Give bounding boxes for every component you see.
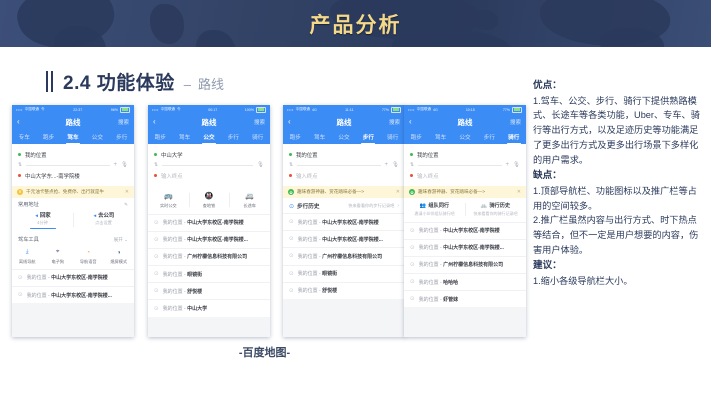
battery-icon: [120, 107, 130, 113]
screen-body: 我的位置 ⇅ + 🎙 输入终点 ✿ 趣味春游神器、赏花踏味必备—: [283, 144, 405, 337]
route-input-card: 中山大学 ⇅ 🎙 输入终点: [148, 144, 270, 186]
tool-radar[interactable]: ⌖ 电子狗: [43, 248, 74, 265]
start-point-row[interactable]: 我的位置: [18, 148, 128, 161]
status-bar: •••• 中国联通 令 00:17 100%: [148, 105, 270, 114]
shortcut-realtime-bus[interactable]: 🚌 实时公交: [148, 191, 189, 209]
tab-buxing[interactable]: 步行: [363, 133, 374, 144]
list-item[interactable]: ⊙ 我的位置 - 中山大学东校区-南学院楼: [12, 269, 134, 286]
pros-block: 优点： 1.驾车、公交、步行、骑行下提供熟路模式、长途车等各类功能，Uber、专…: [533, 78, 705, 168]
clock-icon: ⊙: [410, 296, 415, 302]
mode-tab-bar: 跑步 驾车 公交 步行 骑行: [283, 130, 405, 144]
history-list: ⊙ 我的位置 - 中山大学东校区-南学院楼 ⊙ 我的位置 - 中山大学东校区-南…: [12, 269, 134, 303]
tab-paobu[interactable]: 跑步: [290, 133, 301, 144]
tool-offline-nav[interactable]: ⤓ 离线导航: [12, 248, 43, 265]
start-point-label: 中山大学: [161, 151, 183, 159]
end-point-row[interactable]: 输入终点: [154, 169, 264, 182]
battery-icon: [512, 107, 522, 113]
battery-icon: [256, 107, 266, 113]
history-prefix: 我的位置 -: [163, 220, 187, 226]
clock-icon: ⊙: [410, 228, 415, 234]
swap-icon[interactable]: ⇅: [289, 162, 293, 168]
shortcut-coach[interactable]: 🚐 长途车: [229, 191, 270, 209]
divider: [297, 165, 380, 166]
action-ride-history-label: 骑行历史: [489, 203, 510, 209]
slide-root: 产品分析 2.4 功能体验 – 路线 •••• 中国联通 令 22:37 96%…: [0, 0, 711, 400]
tab-paobu[interactable]: 跑步: [43, 133, 54, 144]
tab-buxing[interactable]: 步行: [228, 133, 239, 144]
clock-icon: ⊙: [154, 237, 159, 243]
search-button[interactable]: 搜索: [389, 118, 400, 126]
clock-icon: ⊙: [410, 262, 415, 268]
add-waypoint-icon[interactable]: +: [114, 162, 118, 168]
transit-shortcut-row: 🚌 实时公交 🚇 查地铁 🚐 长途车: [148, 186, 270, 214]
tab-paobu[interactable]: 跑步: [155, 133, 166, 144]
end-dot-icon: [410, 174, 413, 177]
cons-block: 缺点： 1.顶部导航栏、功能图标以及推广栏等占用的空间较多。 2.推广栏虽然内容…: [533, 168, 705, 258]
history-place: 中山大学东校区-南学院楼: [187, 220, 244, 226]
nav-bar: ‹ 路线 搜索: [283, 114, 405, 130]
page-title: 路线: [12, 117, 134, 128]
team-icon: 👥: [420, 203, 426, 209]
history-prefix: 我的位置 -: [27, 293, 51, 299]
route-input-card: 我的位置 ⇅ + 🎙 输入终点: [404, 144, 526, 186]
list-item[interactable]: ⊙ 我的位置 - 中山大学东校区-南学院楼...: [12, 286, 134, 303]
end-point-row[interactable]: 输入终点: [289, 169, 399, 182]
list-item[interactable]: ⊙我的位置 - 虾管妹: [404, 290, 526, 307]
status-bar: •••• 中国联通 4G 10:15 77%: [404, 105, 526, 114]
list-item[interactable]: ⊙我的位置 - 广州柠檬信息科技有限公司: [148, 248, 270, 265]
expand-button[interactable]: 展开 ⌄: [114, 237, 128, 243]
nav-bar: ‹ 路线 搜索: [404, 114, 526, 130]
route-input-card: 我的位置 ⇅ + 🎙 输入终点: [283, 144, 405, 186]
history-prefix: 我的位置 -: [419, 262, 443, 268]
wifi-icon: 令: [41, 107, 45, 112]
tab-gongjiao[interactable]: 公交: [338, 133, 349, 144]
history-prefix: 我的位置 -: [298, 271, 322, 277]
tab-qixing[interactable]: 骑行: [252, 133, 263, 144]
battery-percent-label: 96%: [111, 108, 118, 112]
history-place: 中山大学: [187, 306, 207, 312]
list-item[interactable]: ⊙我的位置 - 广州柠檬信息科技有限公司: [283, 247, 405, 264]
start-point-row[interactable]: 中山大学: [154, 148, 264, 161]
clock-icon: ⊙: [289, 271, 294, 277]
list-item[interactable]: ⊙我的位置 - 中山大学东校区-南学院楼: [283, 213, 405, 230]
pros-body: 1.驾车、公交、步行、骑行下提供熟路模式、长途车等各类功能，Uber、专车、骑行…: [533, 94, 705, 169]
history-list: ⊙我的位置 - 中山大学东校区-南学院楼 ⊙我的位置 - 中山大学东校区-南学院…: [148, 214, 270, 317]
clock-icon: ⊙: [154, 254, 159, 260]
history-place: 中山大学东校区-南学院楼: [51, 275, 108, 281]
status-bar: •••• 中国联通 4G 11:11 77%: [283, 105, 405, 114]
clock-icon: ⊙: [154, 271, 159, 277]
tab-jiache[interactable]: 驾车: [435, 133, 446, 144]
chevron-right-icon: ›: [397, 203, 399, 209]
start-point-row[interactable]: 我的位置: [410, 148, 520, 161]
end-dot-icon: [154, 174, 157, 177]
tab-zhuanche[interactable]: 专车: [19, 133, 30, 144]
list-item[interactable]: ⊙我的位置 - 舒悦楼: [283, 282, 405, 299]
download-icon: ⤓: [23, 248, 32, 257]
promo-badge-icon: ✿: [288, 189, 294, 195]
tool-screenoff-label: 熄屏模式: [104, 259, 135, 265]
start-dot-icon: [289, 153, 292, 156]
swap-icon[interactable]: ⇅: [154, 162, 158, 168]
cons-label: 缺点：: [533, 168, 705, 184]
add-waypoint-icon[interactable]: +: [385, 162, 389, 168]
tab-gongjiao[interactable]: 公交: [459, 133, 470, 144]
history-place: 中山大学东校区-南学院楼...: [443, 245, 504, 251]
shortcut-subway-label: 查地铁: [189, 203, 230, 209]
history-prefix: 我的位置 -: [163, 237, 187, 243]
page-title: 路线: [404, 117, 526, 128]
tab-qixing[interactable]: 骑行: [387, 133, 398, 144]
favorite-company-sub: 点击设置: [73, 220, 134, 226]
promo-banner[interactable]: ✿ 趣味春游神器、赏花踏味必备—> ✕: [404, 186, 526, 198]
history-place: 中山大学东校区-南学院楼: [322, 220, 379, 226]
status-bar: •••• 中国联通 令 22:37 96%: [12, 105, 134, 114]
header-banner: 产品分析: [0, 0, 711, 47]
screen-body: 中山大学 ⇅ 🎙 输入终点 🚌 实时公交: [148, 144, 270, 337]
promo-banner[interactable]: ￥ 千元油卡整点抢、免费停、出行就是牛 ✕: [12, 186, 134, 198]
history-place: 眼镜街: [322, 271, 337, 277]
network-type-label: 4G: [312, 108, 317, 112]
nav-bar: ‹ 路线 搜索: [148, 114, 270, 130]
divider: [26, 165, 109, 166]
cycling-action-row: 👥组队同行 邀请小伙伴组队骑行吧 🚲骑行历史 快来看看你的骑行记录吧: [404, 198, 526, 222]
carrier-label: 中国联通: [417, 107, 431, 112]
end-point-row[interactable]: 中山大学东...-南学院楼: [18, 169, 128, 182]
history-place: 广州柠檬信息科技有限公司: [322, 254, 382, 260]
tab-jiache[interactable]: 驾车: [314, 133, 325, 144]
company-icon: ◄: [93, 213, 97, 218]
suggestions-label: 建议：: [533, 258, 705, 274]
list-item[interactable]: ⊙我的位置 - 中山大学: [148, 299, 270, 316]
shortcut-subway[interactable]: 🚇 查地铁: [189, 191, 230, 209]
network-type-label: 4G: [433, 108, 438, 112]
radar-icon: ⌖: [53, 248, 62, 257]
clock-icon: ⊙: [289, 253, 294, 259]
active-underline: [30, 228, 56, 229]
tab-qixing[interactable]: 骑行: [508, 133, 519, 144]
cons-body-1: 1.顶部导航栏、功能图标以及推广栏等占用的空间较多。: [533, 184, 705, 214]
tool-offline-nav-label: 离线导航: [12, 259, 43, 265]
tool-screenoff[interactable]: ◑ 熄屏模式: [104, 248, 135, 265]
screen-body: 我的位置 ⇅ + 🎙 中山大学东...-南学院楼 ￥ 千元油卡整: [12, 144, 134, 337]
history-place: 中山大学东校区-南学院楼...: [51, 293, 112, 299]
clock-icon: ⊙: [154, 220, 159, 226]
clock-icon: ⊙: [18, 292, 23, 298]
shortcut-coach-label: 长途车: [229, 203, 270, 209]
end-point-placeholder: 输入终点: [417, 172, 439, 180]
history-place: 眼镜街: [187, 272, 202, 278]
favorite-company[interactable]: ◄去公司 点击设置: [73, 211, 134, 229]
history-prefix: 我的位置 -: [419, 228, 443, 234]
clock-icon: ⊙: [410, 279, 415, 285]
end-point-placeholder: 输入终点: [161, 172, 183, 180]
pros-label: 优点：: [533, 78, 705, 94]
tool-radar-label: 电子狗: [43, 259, 74, 265]
tools-header: 驾车工具 展开 ⌄: [12, 233, 134, 245]
walking-history-sub: 快来看看你的步行记录吧: [348, 203, 394, 209]
mode-tab-bar: 跑步 驾车 公交 步行 骑行: [148, 130, 270, 144]
start-point-label: 我的位置: [25, 151, 47, 159]
divider: [162, 165, 253, 166]
footprint-icon: ⊙: [289, 203, 294, 210]
list-item[interactable]: ⊙我的位置 - 中山大学东校区-南学院楼...: [404, 239, 526, 256]
signal-dots-icon: ••••: [287, 108, 294, 112]
search-button[interactable]: 搜索: [118, 118, 129, 126]
action-team-ride[interactable]: 👥组队同行 邀请小伙伴组队骑行吧: [404, 202, 465, 217]
clock-icon: ⊙: [289, 219, 294, 225]
promo-text: 趣味春游神器、赏花踏味必备—>: [297, 189, 393, 195]
history-prefix: 我的位置 -: [27, 275, 51, 281]
route-controls-row: ⇅ + 🎙: [289, 161, 399, 169]
page-title: 路线: [148, 117, 270, 128]
suggestions-body: 1.缩小各级导航栏大小。: [533, 274, 705, 289]
carrier-label: 中国联通: [25, 107, 39, 112]
phone-screenshot-transit: •••• 中国联通 令 00:17 100% ‹ 路线 搜索 跑步 驾车 公交 …: [148, 105, 270, 337]
battery-percent-label: 100%: [245, 108, 254, 112]
list-item[interactable]: ⊙我的位置 - 中山大学东校区-南学院楼: [148, 214, 270, 231]
tab-jiache[interactable]: 驾车: [67, 133, 78, 144]
end-point-label: 中山大学东...-南学院楼: [25, 172, 80, 180]
history-prefix: 我的位置 -: [163, 306, 187, 312]
section-dash: –: [184, 77, 191, 92]
tab-jiache[interactable]: 驾车: [179, 133, 190, 144]
bicycle-icon: 🚲: [481, 203, 487, 209]
bus-icon: 🚌: [163, 191, 173, 201]
swap-icon[interactable]: ⇅: [410, 162, 414, 168]
promo-text: 千元油卡整点抢、免费停、出行就是牛: [26, 189, 122, 195]
battery-icon: [391, 107, 401, 113]
history-place: 舒悦楼: [322, 288, 337, 294]
phone-screenshot-walking: •••• 中国联通 4G 11:11 77% ‹ 路线 搜索 跑步 驾车 公交 …: [283, 105, 405, 337]
clock-icon: ⊙: [289, 288, 294, 294]
favorite-home[interactable]: ◄回家 4分钟: [12, 211, 73, 229]
favorites-row: ◄回家 4分钟 ◄去公司 点击设置: [12, 210, 134, 233]
section-subtitle: 路线: [198, 74, 224, 93]
route-controls-row: ⇅ 🎙: [154, 161, 264, 169]
list-item[interactable]: ⊙我的位置 - 广州柠檬信息科技有限公司: [404, 256, 526, 273]
list-item[interactable]: ⊙我的位置 - 舒悦楼: [148, 282, 270, 299]
history-place: 中山大学东校区-南学院楼...: [322, 237, 383, 243]
tool-voice[interactable]: ◔ 导航语音: [73, 248, 104, 265]
start-dot-icon: [154, 153, 157, 156]
nav-bar: ‹ 路线 搜索: [12, 114, 134, 130]
list-item[interactable]: ⊙我的位置 - 中山大学东校区-南学院楼...: [148, 231, 270, 248]
tools-row: ⤓ 离线导航 ⌖ 电子狗 ◔ 导航语音 ◑ 熄屏模式: [12, 245, 134, 269]
carrier-label: 中国联通: [296, 107, 310, 112]
history-place: 哈哈哈: [443, 280, 458, 286]
tab-gongjiao[interactable]: 公交: [92, 133, 103, 144]
history-prefix: 我的位置 -: [419, 280, 443, 286]
search-button[interactable]: 搜索: [510, 118, 521, 126]
history-prefix: 我的位置 -: [163, 289, 187, 295]
search-button[interactable]: 搜索: [254, 118, 265, 126]
clock-label: 10:15: [466, 108, 475, 112]
clock-icon: ⊙: [289, 236, 294, 242]
clock-icon: ⊙: [154, 288, 159, 294]
tools-title: 驾车工具: [18, 236, 39, 243]
walking-history-title: 步行历史: [297, 202, 319, 210]
suggestions-block: 建议： 1.缩小各级导航栏大小。: [533, 258, 705, 288]
list-item[interactable]: ⊙我的位置 - 哈哈哈: [404, 273, 526, 290]
history-prefix: 我的位置 -: [298, 237, 322, 243]
favorites-header: 常用地址 ✎: [12, 198, 134, 210]
list-item[interactable]: ⊙我的位置 - 眼镜街: [283, 265, 405, 282]
end-dot-icon: [18, 174, 21, 177]
promo-banner[interactable]: ✿ 趣味春游神器、赏花踏味必备—> ✕: [283, 186, 405, 198]
clock-label: 22:37: [73, 108, 82, 112]
close-icon[interactable]: ✕: [396, 189, 400, 195]
swap-icon[interactable]: ⇅: [18, 162, 22, 168]
mode-tab-bar: 专车 跑步 驾车 公交 步行: [12, 130, 134, 144]
tab-buxing[interactable]: 步行: [116, 133, 127, 144]
history-prefix: 我的位置 -: [298, 254, 322, 260]
history-list: ⊙我的位置 - 中山大学东校区-南学院楼 ⊙我的位置 - 中山大学东校区-南学院…: [283, 213, 405, 299]
clock-label: 11:11: [345, 108, 353, 112]
signal-dots-icon: ••••: [16, 108, 23, 112]
moon-icon: ◑: [114, 248, 123, 257]
section-number: 2.4 功能体验: [63, 68, 175, 95]
clock-icon: ⊙: [410, 245, 415, 251]
start-point-label: 我的位置: [417, 151, 439, 159]
end-dot-icon: [289, 174, 292, 177]
battery-percent-label: 77%: [503, 108, 510, 112]
history-list: ⊙我的位置 - 中山大学东校区-南学院楼 ⊙我的位置 - 中山大学东校区-南学院…: [404, 222, 526, 308]
double-bar-icon: [46, 71, 53, 92]
wifi-icon: 令: [177, 107, 181, 112]
figure-caption: -百度地图-: [12, 344, 517, 360]
microphone-icon[interactable]: 🎙: [257, 162, 264, 168]
action-team-ride-sub: 邀请小伙伴组队骑行吧: [404, 211, 465, 217]
banner-title: 产品分析: [0, 0, 711, 47]
section-heading: 2.4 功能体验 – 路线: [46, 68, 224, 95]
clock-label: 00:17: [208, 108, 217, 112]
action-team-ride-label: 组队同行: [428, 203, 449, 209]
promo-text: 趣味春游神器、赏花踏味必备—>: [418, 189, 514, 195]
route-controls-row: ⇅ + 🎙: [410, 161, 520, 169]
action-ride-history-sub: 快来看看你的骑行记录吧: [465, 211, 526, 217]
home-icon: ◄: [34, 213, 38, 218]
list-item[interactable]: ⊙我的位置 - 中山大学东校区-南学院楼: [404, 222, 526, 239]
history-prefix: 我的位置 -: [163, 272, 187, 278]
history-prefix: 我的位置 -: [298, 288, 322, 294]
list-item[interactable]: ⊙我的位置 - 眼镜街: [148, 265, 270, 282]
history-place: 广州柠檬信息科技有限公司: [187, 254, 247, 260]
tool-voice-label: 导航语音: [73, 259, 104, 265]
route-controls-row: ⇅ + 🎙: [18, 161, 128, 169]
favorites-title: 常用地址: [18, 201, 39, 208]
promo-badge-icon: ✿: [409, 189, 415, 195]
favorite-home-sub: 4分钟: [12, 220, 73, 226]
coach-bus-icon: 🚐: [245, 191, 255, 201]
screen-body: 我的位置 ⇅ + 🎙 输入终点 ✿ 趣味春游神器、赏花踏味必备—: [404, 144, 526, 337]
start-point-row[interactable]: 我的位置: [289, 148, 399, 161]
clock-icon: ⊙: [18, 275, 23, 281]
shortcut-realtime-bus-label: 实时公交: [148, 203, 189, 209]
battery-percent-label: 77%: [382, 108, 389, 112]
start-dot-icon: [18, 153, 21, 156]
page-title: 路线: [283, 117, 405, 128]
analysis-notes: 优点： 1.驾车、公交、步行、骑行下提供熟路模式、长途车等各类功能，Uber、专…: [533, 78, 705, 289]
action-ride-history[interactable]: 🚲骑行历史 快来看看你的骑行记录吧: [465, 202, 526, 217]
tab-buxing[interactable]: 步行: [484, 133, 495, 144]
tab-gongjiao[interactable]: 公交: [203, 133, 214, 144]
speaker-icon: ◔: [84, 248, 93, 257]
tab-paobu[interactable]: 跑步: [411, 133, 422, 144]
microphone-icon[interactable]: 🎙: [121, 162, 128, 168]
start-point-label: 我的位置: [296, 151, 318, 159]
route-input-card: 我的位置 ⇅ + 🎙 中山大学东...-南学院楼: [12, 144, 134, 186]
history-prefix: 我的位置 -: [419, 245, 443, 251]
clock-icon: ⊙: [154, 306, 159, 312]
microphone-icon[interactable]: 🎙: [513, 162, 520, 168]
phone-screenshot-driving: •••• 中国联通 令 22:37 96% ‹ 路线 搜索 专车 跑步 驾车 公…: [12, 105, 134, 337]
signal-dots-icon: ••••: [408, 108, 415, 112]
edit-icon[interactable]: ✎: [124, 202, 128, 208]
add-waypoint-icon[interactable]: +: [506, 162, 510, 168]
history-place: 中山大学东校区-南学院楼: [443, 228, 500, 234]
phone-screenshot-group: •••• 中国联通 令 22:37 96% ‹ 路线 搜索 专车 跑步 驾车 公…: [12, 105, 517, 337]
divider: [418, 165, 501, 166]
end-point-placeholder: 输入终点: [296, 172, 318, 180]
favorite-company-label: 去公司: [98, 213, 114, 219]
mode-tab-bar: 跑步 驾车 公交 步行 骑行: [404, 130, 526, 144]
start-dot-icon: [410, 153, 413, 156]
subway-icon: 🚇: [204, 191, 214, 201]
carrier-label: 中国联通: [161, 107, 175, 112]
walking-history-header[interactable]: ⊙ 步行历史 快来看看你的步行记录吧 ›: [283, 198, 405, 213]
history-place: 虾管妹: [443, 297, 458, 303]
promo-badge-icon: ￥: [17, 189, 23, 195]
history-place: 舒悦楼: [187, 289, 202, 295]
close-icon[interactable]: ✕: [517, 189, 521, 195]
phone-screenshot-cycling: •••• 中国联通 4G 10:15 77% ‹ 路线 搜索 跑步 驾车 公交 …: [404, 105, 526, 337]
history-prefix: 我的位置 -: [419, 297, 443, 303]
history-prefix: 我的位置 -: [298, 220, 322, 226]
signal-dots-icon: ••••: [152, 108, 159, 112]
close-icon[interactable]: ✕: [125, 189, 129, 195]
history-place: 广州柠檬信息科技有限公司: [443, 262, 503, 268]
cons-body-2: 2.推广栏虽然内容与出行方式、时下热点等结合，但不一定是用户想要的内容，伤害用户…: [533, 213, 705, 258]
history-place: 中山大学东校区-南学院楼...: [187, 237, 248, 243]
list-item[interactable]: ⊙我的位置 - 中山大学东校区-南学院楼...: [283, 230, 405, 247]
microphone-icon[interactable]: 🎙: [392, 162, 399, 168]
end-point-row[interactable]: 输入终点: [410, 169, 520, 182]
history-prefix: 我的位置 -: [163, 254, 187, 260]
favorite-home-label: 回家: [40, 213, 51, 219]
